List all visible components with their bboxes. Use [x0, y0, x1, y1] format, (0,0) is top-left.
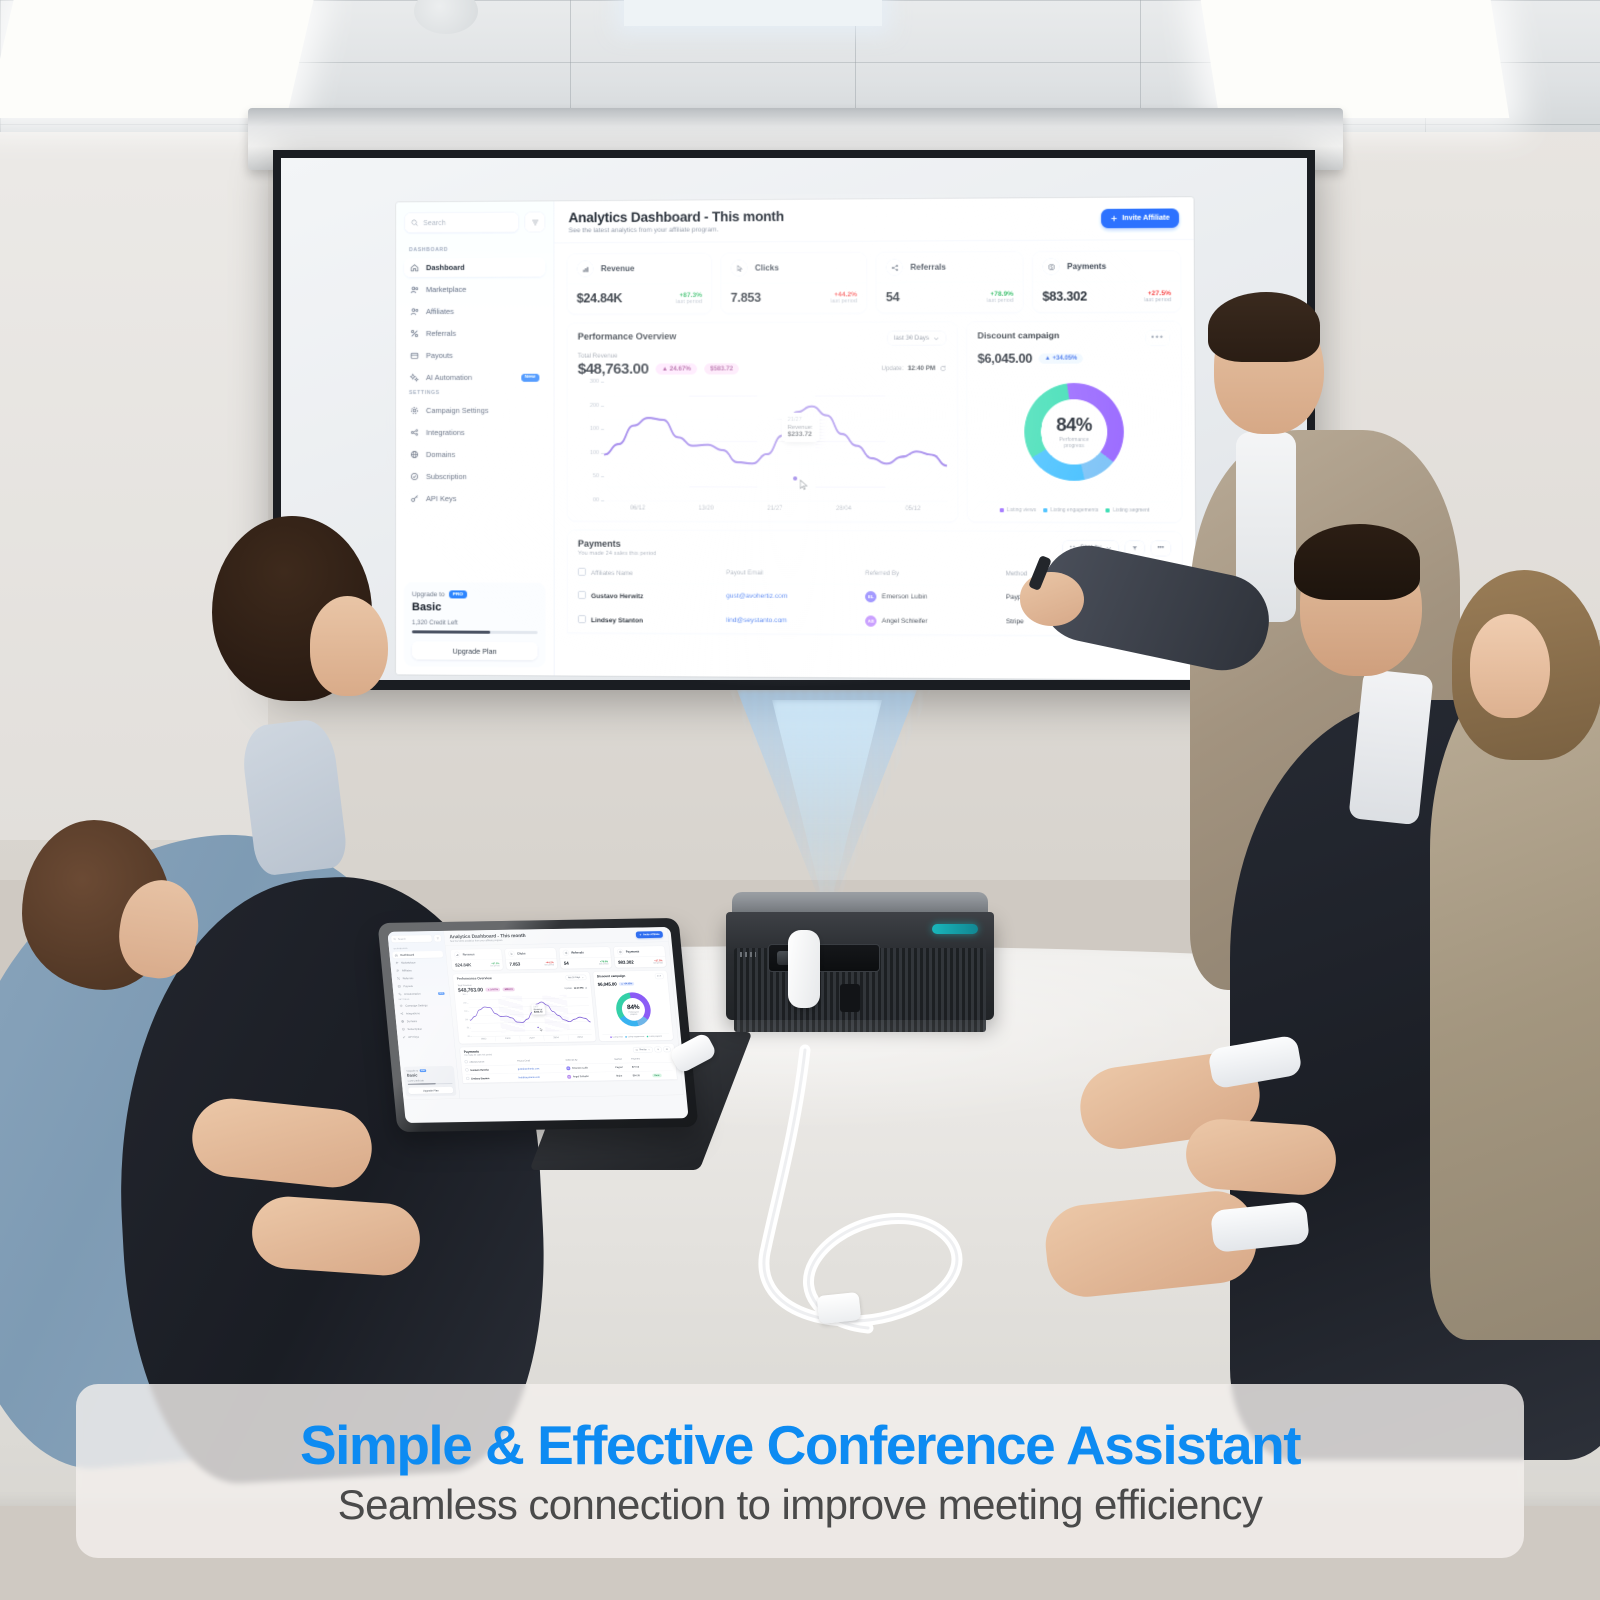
x-tick-label: 06/12: [604, 501, 672, 516]
upgrade-plan-button[interactable]: Upgrade Plan: [412, 641, 538, 660]
discount-value: $6,045.00: [977, 352, 1032, 366]
page-subtitle: See the latest analytics from your affil…: [569, 226, 784, 234]
cable-plug-projector: [788, 930, 820, 1008]
cable-tie: [817, 1292, 862, 1324]
sidebar-nav: DASHBOARDDashboardMarketplaceAffiliatesR…: [404, 244, 546, 511]
sidebar-section-heading: DASHBOARD: [409, 246, 545, 253]
x-tick-label: 21/27: [741, 502, 810, 517]
y-tick-label: 300: [590, 379, 599, 385]
cell-referred-by: ASAngel Schleifer: [865, 609, 1006, 634]
legend-item: Listing engagements: [1043, 507, 1098, 513]
invite-affiliate-label: Invite Affiliate: [1122, 215, 1169, 222]
hands-right-middle: [1184, 1117, 1339, 1197]
sparkle-icon: [410, 373, 419, 382]
cell-affiliate-name: Lindsey Stanton: [578, 608, 726, 633]
sidebar-item-label: Referrals: [426, 329, 456, 338]
banner-subhead: Seamless connection to improve meeting e…: [338, 1481, 1263, 1529]
credit-progress-bar: [412, 630, 538, 634]
sidebar-item-label: Integrations: [426, 428, 465, 437]
discount-title: Discount campaign: [977, 330, 1059, 340]
x-tick-label: 28/04: [810, 502, 879, 517]
hands-left-lower: [250, 1194, 423, 1278]
donut-legend: Listing viewsListing engagementsListing …: [978, 501, 1171, 514]
legend-label: Listing views: [1007, 507, 1036, 513]
user-group-icon: [410, 307, 419, 316]
sidebar-item-subscription[interactable]: Subscription: [404, 467, 546, 486]
check-circle-icon: [410, 472, 419, 481]
sidebar-item-label: Dashboard: [426, 263, 465, 272]
payments-title: Payments: [578, 539, 656, 549]
kpi-icon-wrap: [1042, 258, 1060, 275]
tooltip-label: Revenue:: [788, 425, 813, 431]
x-tick-label: 13/20: [672, 502, 741, 517]
sidebar-item-label: Marketplace: [426, 285, 466, 294]
sidebar-item-affiliates[interactable]: Affiliates: [404, 302, 545, 322]
filter-icon: [531, 218, 539, 226]
ceiling-light-left: [0, 0, 314, 118]
pro-badge: PRO: [449, 590, 467, 598]
kpi-card-revenue: Revenue$24.84K+87.3%last period: [567, 253, 713, 315]
sidebar-item-label: Payouts: [426, 351, 453, 360]
key-icon: [410, 494, 419, 503]
discount-delta: ▲ +34.05%: [1038, 353, 1083, 363]
column-header[interactable]: Affiliates Name: [578, 564, 726, 584]
discount-campaign-card: Discount campaign ••• $6,045.00 ▲ +34.05…: [966, 321, 1183, 523]
chart-x-axis: 06/1213/2021/2728/0405/12: [604, 500, 947, 517]
legend-label: Listing engagements: [1051, 507, 1099, 513]
card-icon: [410, 351, 419, 360]
kpi-icon-wrap: [577, 260, 594, 277]
dollar-icon: [1047, 263, 1055, 271]
conference-room-scene: Search DASHBOARDDashboardMarketplaceAffi…: [0, 0, 1600, 1600]
performance-overview-card: Performance Overview last 30 Days Total …: [567, 321, 959, 522]
kpi-row: Revenue$24.84K+87.3%last periodClicks7.8…: [567, 250, 1182, 314]
attendee-right-far-face: [1470, 614, 1550, 718]
donut-caption: Performance progress: [1059, 437, 1089, 450]
total-revenue-label: Total Revenue: [578, 352, 947, 360]
donut-chart-wrap: 84% Performance progress: [978, 366, 1172, 499]
sidebar-item-integrations[interactable]: Integrations: [404, 423, 546, 442]
sidebar-item-marketplace[interactable]: Marketplace: [404, 280, 545, 300]
y-tick-label: 100: [590, 450, 599, 456]
search-icon: [411, 219, 418, 226]
revenue-line-chart: 3002001001005000 21/27: [578, 381, 947, 501]
users-icon: [410, 285, 419, 294]
kpi-icon-wrap: [730, 259, 747, 276]
kpi-note: last period: [676, 299, 702, 305]
sidebar-item-label: API Keys: [426, 494, 456, 503]
sidebar-item-label: Affiliates: [426, 307, 454, 316]
chart-y-axis: 3002001001005000: [578, 382, 604, 501]
legend-swatch: [1106, 508, 1110, 512]
projector-indicator-dots: [740, 952, 756, 957]
legend-item: Listing views: [999, 507, 1036, 513]
cell-payout-email[interactable]: gust@avohertiz.com: [726, 584, 865, 609]
x-tick-label: 05/12: [879, 502, 947, 517]
kpi-card-referrals: Referrals54+78.9%last period: [875, 251, 1023, 313]
page-title: Analytics Dashboard - This month: [569, 208, 784, 224]
sidebar-section-heading: SETTINGS: [409, 390, 545, 396]
search-input[interactable]: Search: [404, 212, 519, 234]
performance-donut-chart: 84% Performance progress: [1024, 383, 1124, 481]
kpi-label: Payments: [1067, 262, 1106, 271]
date-range-label: last 30 Days: [894, 335, 929, 342]
search-placeholder: Search: [423, 218, 446, 227]
upgrade-panel: Upgrade to PRO Basic 1,320 Credit Left U…: [404, 582, 546, 667]
sidebar-item-ai-automation[interactable]: AI AutomationNew: [404, 368, 545, 387]
kpi-label: Referrals: [910, 263, 946, 272]
cell-referred-by: ELEmerson Lubin: [865, 585, 1006, 610]
cell-affiliate-name: Gustavo Herwitz: [578, 583, 726, 608]
kpi-card-clicks: Clicks7.853+44.2%last period: [720, 252, 867, 314]
current-plan: Basic: [412, 601, 538, 614]
column-header-label: Referred By: [865, 570, 899, 577]
avatar: EL: [865, 591, 876, 602]
y-tick-mark: [601, 500, 604, 501]
chart-plot-area: 21/27 Revenue: $233.72: [604, 381, 947, 501]
kpi-label: Clicks: [755, 263, 779, 272]
kpi-value: $24.84K: [577, 291, 623, 305]
column-header[interactable]: Referred By: [865, 565, 1006, 585]
sidebar-item-api-keys[interactable]: API Keys: [404, 489, 546, 508]
projector-power-led: [932, 924, 978, 934]
plus-icon: [1111, 215, 1118, 222]
update-prefix: Update:: [881, 365, 903, 372]
sidebar-item-label: AI Automation: [426, 373, 472, 382]
payments-subtitle: You made 24 sales this period: [578, 551, 656, 557]
y-tick-label: 50: [593, 474, 599, 480]
kpi-icon-wrap: [886, 259, 903, 276]
attendee-left-second-face: [310, 596, 388, 696]
cursor-pointer-icon: [799, 479, 808, 490]
kpi-delta: +44.2%: [831, 291, 857, 298]
kpi-value: 54: [886, 290, 900, 304]
kpi-note: last period: [987, 298, 1014, 304]
y-tick-label: 200: [590, 402, 599, 408]
percent-icon: [410, 329, 419, 338]
chevron-down-icon: [933, 335, 939, 341]
sidebar-item-dashboard[interactable]: Dashboard: [404, 257, 545, 277]
funnel-icon: [1131, 545, 1137, 551]
plug-icon: [410, 428, 419, 437]
revenue-delta-abs: $583.72: [704, 363, 739, 374]
sidebar-item-label: Subscription: [426, 472, 467, 481]
sidebar-item-referrals[interactable]: Referrals: [404, 324, 545, 343]
legend-swatch: [1043, 508, 1047, 512]
chart-tooltip: 21/27 Revenue: $233.72: [781, 412, 819, 441]
sidebar-item-payouts[interactable]: Payouts: [404, 346, 545, 365]
filter-button[interactable]: [524, 211, 545, 232]
row-checkbox[interactable]: [578, 591, 586, 599]
column-header[interactable]: Payout Email: [726, 564, 865, 584]
legend-label: Listing segment: [1113, 507, 1150, 513]
update-stamp: Update: 12:40 PM: [881, 365, 946, 372]
kpi-card-payments: Payments$83.302+27.5%last period: [1032, 250, 1182, 313]
share-icon: [890, 263, 898, 271]
credit-left: 1,320 Credit Left: [412, 619, 538, 627]
update-time: 12:40 PM: [908, 365, 936, 372]
projector-lens: [768, 944, 880, 972]
sidebar-item-campaign-settings[interactable]: Campaign Settings: [404, 401, 545, 420]
row-checkbox[interactable]: [578, 615, 586, 623]
discount-more-menu[interactable]: •••: [1145, 330, 1171, 346]
upgrade-prompt: Upgrade to: [412, 591, 445, 598]
donut-percent: 84%: [1056, 414, 1092, 435]
bar-chart-icon: [581, 265, 589, 273]
revenue-delta-pct: ▲ 24.67%: [656, 363, 697, 374]
gear-icon: [410, 406, 419, 415]
tooltip-value: $233.72: [788, 431, 813, 438]
avatar: AS: [865, 616, 876, 627]
marketing-banner: Simple & Effective Conference Assistant …: [76, 1384, 1524, 1558]
sidebar-item-label: Domains: [426, 450, 455, 459]
column-header-label: Method: [1006, 570, 1027, 577]
globe-icon: [410, 450, 419, 459]
sidebar-item-label: Campaign Settings: [426, 406, 489, 415]
kpi-value: $83.302: [1042, 289, 1087, 303]
kpi-note: last period: [1144, 297, 1171, 303]
left-wall: [0, 100, 268, 840]
sidebar-item-domains[interactable]: Domains: [404, 445, 546, 464]
date-range-dropdown[interactable]: last 30 Days: [887, 330, 947, 345]
performance-title: Performance Overview: [578, 331, 677, 341]
y-tick-label: 00: [593, 497, 599, 503]
column-header-label: Affiliates Name: [591, 570, 633, 577]
ceiling-light-right: [1201, 0, 1510, 118]
kpi-label: Revenue: [601, 264, 635, 273]
top-bar: Analytics Dashboard - This month See the…: [554, 197, 1193, 243]
kpi-note: last period: [831, 298, 857, 304]
refresh-icon[interactable]: [939, 365, 946, 372]
sidebar: Search DASHBOARDDashboardMarketplaceAffi…: [396, 201, 555, 675]
tooltip-date: 21/27: [788, 416, 813, 422]
payments-more-menu[interactable]: •••: [1150, 540, 1171, 556]
sidebar-search-row: Search: [404, 211, 545, 233]
kpi-value: 7.853: [731, 291, 761, 305]
legend-item: Listing segment: [1106, 507, 1150, 513]
page-title-block: Analytics Dashboard - This month See the…: [569, 208, 785, 233]
banner-headline: Simple & Effective Conference Assistant: [300, 1413, 1300, 1477]
new-badge: New: [521, 373, 540, 381]
attendee-right-seated-hair: [1294, 524, 1420, 600]
legend-swatch: [999, 508, 1003, 512]
presenter-hair: [1208, 292, 1320, 362]
ceiling-light-center: [624, 0, 882, 26]
charts-row: Performance Overview last 30 Days Total …: [567, 321, 1183, 523]
cell-payout-email[interactable]: lind@seystanto.com: [726, 608, 865, 633]
cursor-icon: [735, 264, 743, 272]
home-icon: [410, 263, 419, 272]
y-tick-label: 100: [590, 426, 599, 432]
column-header-label: Payout Email: [726, 569, 763, 576]
revenue-line-path: [604, 381, 947, 501]
invite-affiliate-button[interactable]: Invite Affiliate: [1101, 208, 1179, 228]
select-all-checkbox[interactable]: [578, 568, 586, 576]
total-revenue-value: $48,763.00: [578, 361, 649, 378]
